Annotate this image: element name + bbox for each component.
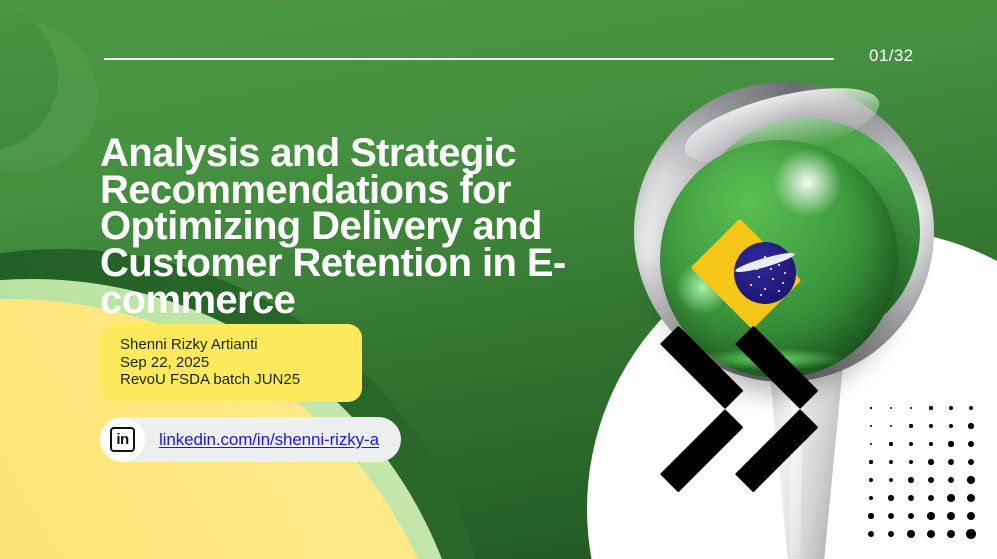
page-title: Analysis and Strategic Recommendations f… <box>100 135 620 319</box>
grid-dot <box>927 530 935 538</box>
grid-dot <box>888 531 895 538</box>
cohort-label: RevoU FSDA batch JUN25 <box>120 371 344 389</box>
presentation-date: Sep 22, 2025 <box>120 354 344 372</box>
grid-dot <box>909 424 912 427</box>
grid-dot <box>968 423 973 428</box>
grid-dot <box>947 512 955 520</box>
grid-dot <box>890 407 892 409</box>
grid-dot <box>967 512 976 521</box>
flag-star-icon <box>760 294 762 296</box>
grid-dot <box>928 459 933 464</box>
grid-dot <box>967 494 975 502</box>
flag-globe-icon <box>734 242 796 304</box>
grid-dot <box>908 513 915 520</box>
grid-dot <box>870 443 873 446</box>
grid-dot <box>869 460 872 463</box>
header-divider <box>104 58 834 60</box>
grid-dot <box>868 513 873 518</box>
grid-dot <box>908 495 914 501</box>
grid-dot <box>870 407 871 408</box>
linkedin-icon: in <box>100 417 145 462</box>
grid-dot <box>948 459 954 465</box>
grid-dot <box>869 478 873 482</box>
grid-dot <box>949 424 954 429</box>
page-number: 01/32 <box>869 46 914 66</box>
grid-dot <box>948 441 953 446</box>
linkedin-icon-label: in <box>110 427 135 452</box>
grid-dot <box>870 425 872 427</box>
flag-star-icon <box>778 264 780 266</box>
grid-dot <box>908 477 913 482</box>
grid-dot <box>889 478 894 483</box>
grid-dot <box>968 459 975 466</box>
grid-dot <box>909 460 914 465</box>
grid-dot <box>869 496 874 501</box>
flag-star-icon <box>758 276 760 278</box>
grid-dot <box>928 495 935 502</box>
grid-dot <box>889 460 893 464</box>
linkedin-url-link[interactable]: linkedin.com/in/shenni-rizky-a <box>159 430 379 450</box>
grid-dot <box>969 406 974 411</box>
author-card: Shenni Rizky Artianti Sep 22, 2025 RevoU… <box>100 324 362 402</box>
linkedin-pill[interactable]: in linkedin.com/in/shenni-rizky-a <box>100 417 401 462</box>
grid-dot <box>927 512 934 519</box>
presentation-slide: 01/32 Analysis and Strategic Recommendat… <box>0 0 997 559</box>
grid-dot <box>929 442 934 447</box>
grid-dot <box>929 424 933 428</box>
grid-dot <box>907 530 914 537</box>
grid-dot <box>947 494 954 501</box>
grid-dot <box>889 442 892 445</box>
flag-star-icon <box>750 284 752 286</box>
grid-dot <box>967 476 974 483</box>
grid-dot <box>868 531 874 537</box>
grid-dot <box>929 406 932 409</box>
grid-dot <box>947 530 956 539</box>
grid-dot <box>909 442 913 446</box>
flag-star-icon <box>772 278 774 280</box>
grid-dot <box>948 477 955 484</box>
flag-star-icon <box>764 288 766 290</box>
grid-dot <box>949 406 953 410</box>
flag-star-icon <box>782 282 784 284</box>
grid-dot <box>966 529 975 538</box>
grid-dot <box>888 495 893 500</box>
grid-dot <box>968 441 974 447</box>
flag-star-icon <box>778 290 780 292</box>
flag-star-icon <box>770 268 772 270</box>
grid-dot <box>910 407 913 410</box>
flag-star-icon <box>784 272 786 274</box>
dot-grid-pattern <box>861 399 979 551</box>
grid-dot <box>890 425 893 428</box>
author-name: Shenni Rizky Artianti <box>120 336 344 354</box>
grid-dot <box>928 477 934 483</box>
grid-dot <box>888 513 894 519</box>
